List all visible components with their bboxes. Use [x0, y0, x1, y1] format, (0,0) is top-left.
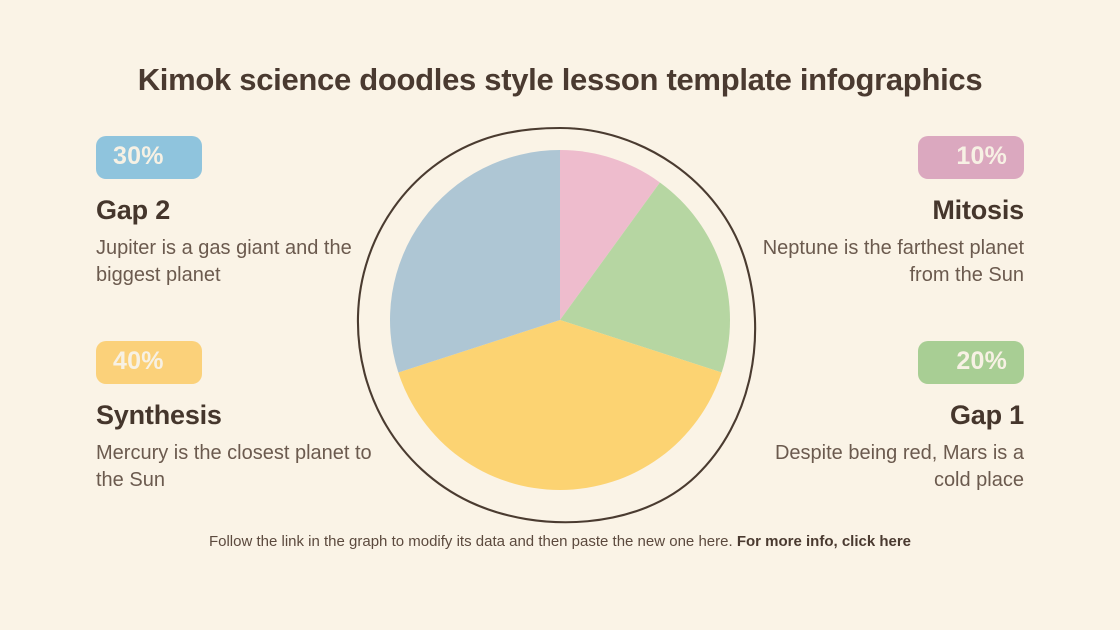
info-block-title-mitosis: Mitosis	[744, 195, 1024, 226]
pie-chart	[340, 110, 780, 530]
percent-badge-40: 40%	[96, 341, 202, 384]
page-title: Kimok science doodles style lesson templ…	[0, 62, 1120, 98]
percent-badge-30: 30%	[96, 136, 202, 179]
info-block-gap-2: 30% Gap 2 Jupiter is a gas giant and the…	[96, 136, 376, 289]
info-block-mitosis: 10% Mitosis Neptune is the farthest plan…	[744, 136, 1024, 289]
footer-text: Follow the link in the graph to modify i…	[209, 533, 733, 550]
info-block-description-gap-1: Despite being red, Mars is a cold place	[744, 440, 1024, 494]
info-block-gap-1: 20% Gap 1 Despite being red, Mars is a c…	[744, 341, 1024, 494]
info-block-description-synthesis: Mercury is the closest planet to the Sun	[96, 440, 376, 494]
pie-chart-svg	[340, 110, 780, 530]
info-block-title-gap-2: Gap 2	[96, 195, 376, 226]
info-block-title-gap-1: Gap 1	[744, 400, 1024, 431]
pie-slices	[390, 150, 730, 490]
percent-badge-20: 20%	[918, 341, 1024, 384]
footer-note: Follow the link in the graph to modify i…	[0, 533, 1120, 550]
info-block-synthesis: 40% Synthesis Mercury is the closest pla…	[96, 341, 376, 494]
info-block-description-gap-2: Jupiter is a gas giant and the biggest p…	[96, 235, 376, 289]
info-block-description-mitosis: Neptune is the farthest planet from the …	[744, 235, 1024, 289]
info-block-title-synthesis: Synthesis	[96, 400, 376, 431]
percent-badge-10: 10%	[918, 136, 1024, 179]
footer-link[interactable]: For more info, click here	[737, 533, 911, 550]
